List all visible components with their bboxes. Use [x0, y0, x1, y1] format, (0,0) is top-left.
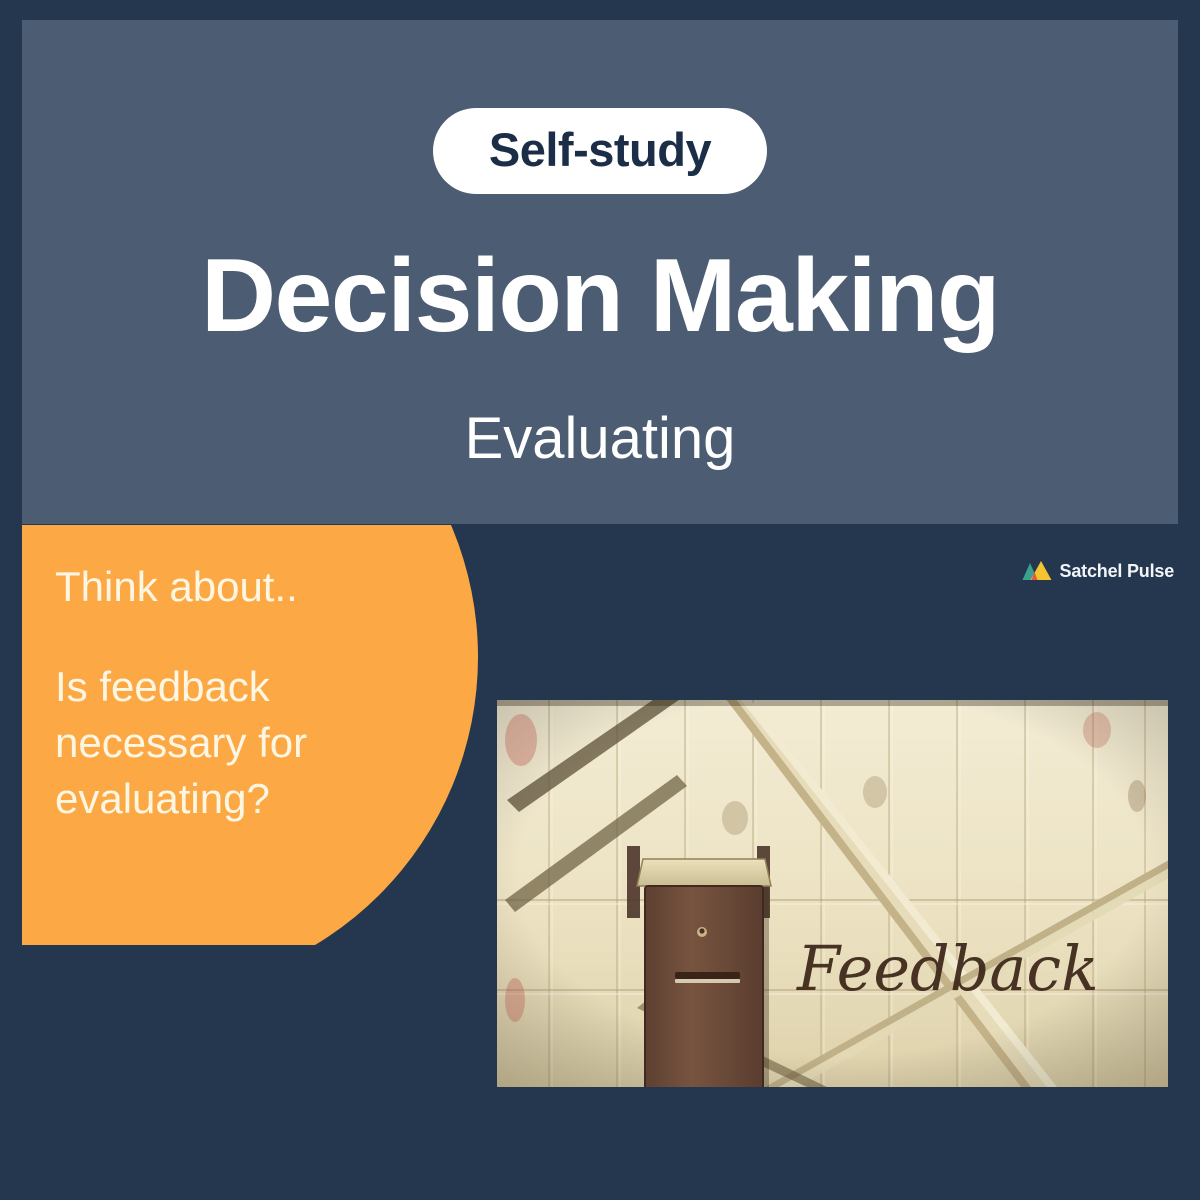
brand-name: Satchel Pulse — [1060, 562, 1174, 580]
feedback-photo: Feedback — [497, 700, 1168, 1087]
self-study-badge: Self-study — [433, 108, 767, 194]
page-subtitle: Evaluating — [22, 404, 1178, 474]
photo-caption-text: Feedback — [796, 932, 1099, 1005]
think-about-circle: Think about.. Is feedback necessary for … — [22, 525, 478, 945]
feedback-photo-image: Feedback — [497, 700, 1168, 1087]
page-title: Decision Making — [22, 238, 1178, 354]
header-panel: Self-study Decision Making Evaluating — [22, 20, 1178, 524]
think-about-label: Think about.. — [55, 563, 395, 611]
badge-row: Self-study — [22, 108, 1178, 194]
brand-logo: Satchel Pulse — [1022, 560, 1174, 582]
mountains-icon — [1022, 560, 1052, 582]
think-about-text-block: Think about.. Is feedback necessary for … — [55, 563, 395, 827]
think-about-question: Is feedback necessary for evaluating? — [55, 659, 365, 827]
slide-canvas: Self-study Decision Making Evaluating Th… — [0, 0, 1200, 1200]
